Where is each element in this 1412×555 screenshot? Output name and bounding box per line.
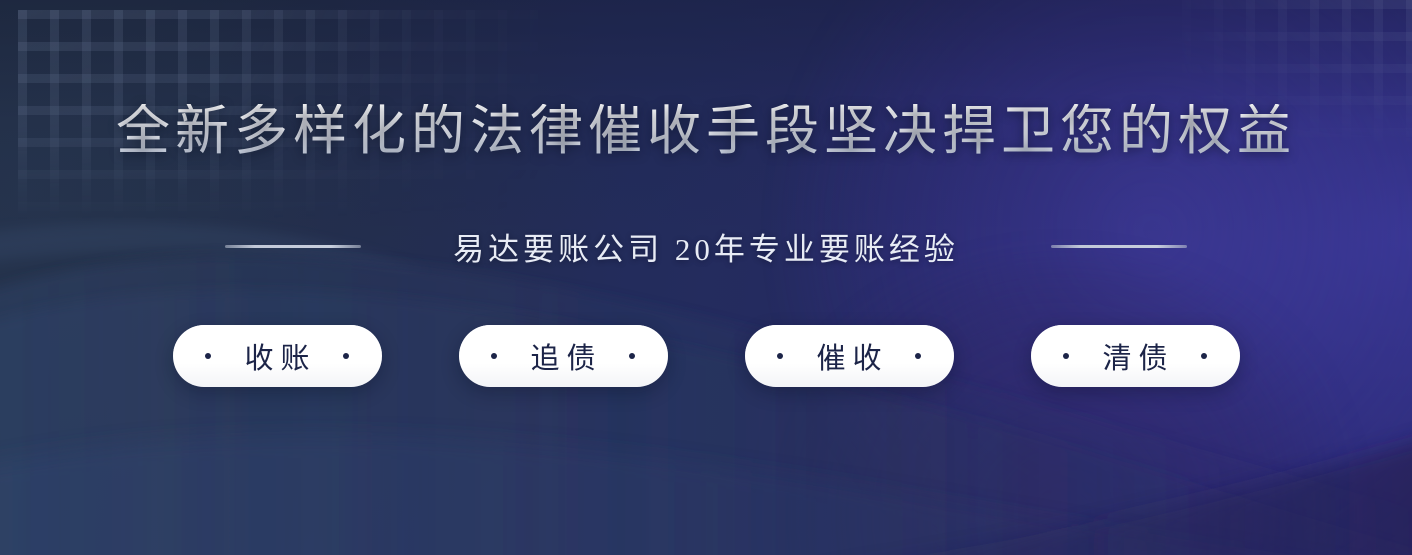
promo-banner: 全新多样化的法律催收手段坚决捍卫您的权益 易达要账公司 20年专业要账经验 收账… xyxy=(0,0,1412,555)
bullet-dot-icon xyxy=(1201,353,1207,359)
service-pill-label: 催收 xyxy=(809,335,888,377)
banner-subtitle: 易达要账公司 20年专业要账经验 xyxy=(453,224,959,269)
rule-left-decoration xyxy=(225,245,361,248)
bullet-dot-icon xyxy=(629,353,635,359)
service-pill-zhuizhai[interactable]: 追债 xyxy=(459,325,668,387)
service-pill-label: 追债 xyxy=(523,335,602,377)
bullet-dot-icon xyxy=(491,353,497,359)
service-pill-cuishou[interactable]: 催收 xyxy=(745,325,954,387)
service-pill-qingzhai[interactable]: 清债 xyxy=(1031,325,1240,387)
service-pill-label: 收账 xyxy=(237,335,316,377)
bullet-dot-icon xyxy=(777,353,783,359)
banner-content: 全新多样化的法律催收手段坚决捍卫您的权益 易达要账公司 20年专业要账经验 收账… xyxy=(0,0,1412,555)
bullet-dot-icon xyxy=(1063,353,1069,359)
service-pill-label: 清债 xyxy=(1095,335,1174,377)
rule-right-decoration xyxy=(1051,245,1187,248)
banner-headline: 全新多样化的法律催收手段坚决捍卫您的权益 xyxy=(116,104,1296,158)
bullet-dot-icon xyxy=(205,353,211,359)
service-pill-list: 收账 追债 催收 清债 xyxy=(173,325,1240,387)
bullet-dot-icon xyxy=(915,353,921,359)
banner-subtitle-row: 易达要账公司 20年专业要账经验 xyxy=(225,224,1187,269)
service-pill-shouzhang[interactable]: 收账 xyxy=(173,325,382,387)
bullet-dot-icon xyxy=(343,353,349,359)
